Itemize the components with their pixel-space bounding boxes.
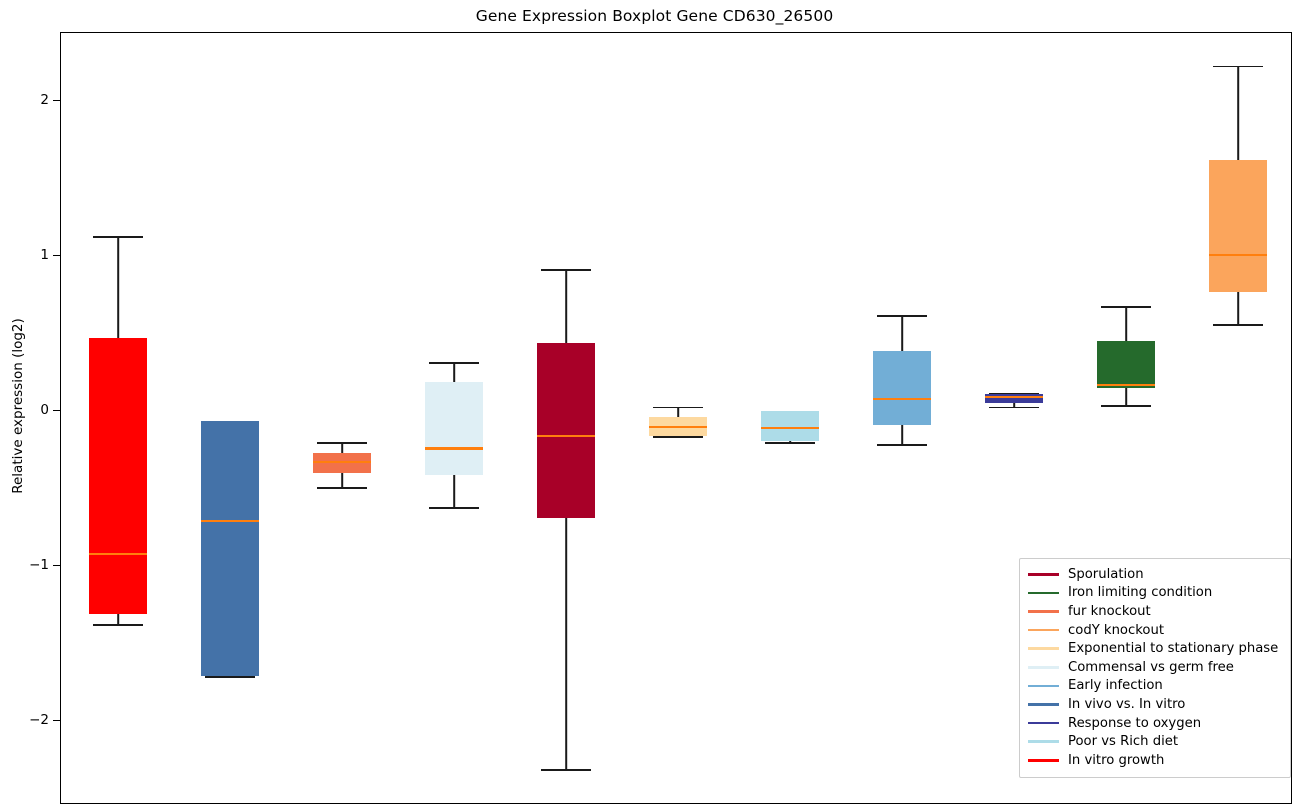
- cap-upper: [653, 407, 703, 409]
- legend-item-label: codY knockout: [1068, 623, 1164, 638]
- legend-item[interactable]: fur knockout: [1028, 602, 1282, 621]
- y-axis-tick: [53, 100, 61, 101]
- whisker-lower: [565, 518, 567, 769]
- legend-item[interactable]: Exponential to stationary phase: [1028, 639, 1282, 658]
- median-line: [761, 427, 819, 429]
- legend-color-swatch: [1028, 629, 1059, 632]
- legend-item-label: Response to oxygen: [1068, 716, 1201, 731]
- cap-upper: [1213, 66, 1263, 68]
- cap-lower: [317, 487, 367, 489]
- cap-lower: [93, 624, 143, 626]
- whisker-upper: [1237, 66, 1239, 161]
- cap-lower: [541, 769, 591, 771]
- median-line: [873, 398, 931, 400]
- y-axis-tick: [53, 565, 61, 566]
- median-line: [1209, 254, 1267, 256]
- chart-title: Gene Expression Boxplot Gene CD630_26500: [0, 7, 1309, 25]
- legend-item[interactable]: codY knockout: [1028, 621, 1282, 640]
- legend-color-swatch: [1028, 592, 1059, 595]
- box: [1097, 341, 1155, 388]
- legend-color-swatch: [1028, 722, 1059, 725]
- cap-lower: [989, 407, 1039, 409]
- box: [761, 411, 819, 440]
- y-axis-tick: [53, 720, 61, 721]
- cap-upper: [1101, 306, 1151, 308]
- whisker-lower: [1237, 292, 1239, 325]
- cap-upper: [877, 315, 927, 317]
- box: [1209, 160, 1267, 292]
- legend-item-label: fur knockout: [1068, 604, 1151, 619]
- cap-lower: [429, 507, 479, 509]
- cap-upper: [317, 442, 367, 444]
- legend-item-label: Sporulation: [1068, 567, 1144, 582]
- median-line: [89, 553, 147, 555]
- box: [537, 343, 595, 518]
- legend-color-swatch: [1028, 573, 1059, 576]
- legend-item-label: Poor vs Rich diet: [1068, 734, 1178, 749]
- y-axis-label-text: Relative expression (log2): [10, 318, 26, 494]
- legend-item-label: In vivo vs. In vitro: [1068, 697, 1185, 712]
- y-axis-tick-label: −1: [29, 557, 49, 573]
- y-axis-label: Relative expression (log2): [5, 0, 31, 812]
- legend-color-swatch: [1028, 759, 1059, 762]
- legend-item[interactable]: In vitro growth: [1028, 751, 1282, 770]
- legend-item[interactable]: Sporulation: [1028, 565, 1282, 584]
- cap-lower: [1213, 324, 1263, 326]
- legend: SporulationIron limiting conditionfur kn…: [1019, 558, 1291, 778]
- whisker-lower: [1125, 388, 1127, 405]
- median-line: [425, 447, 483, 449]
- legend-item[interactable]: Iron limiting condition: [1028, 584, 1282, 603]
- whisker-lower: [117, 614, 119, 623]
- cap-upper: [93, 236, 143, 238]
- y-axis-tick-label: 0: [40, 402, 49, 418]
- cap-lower: [205, 676, 255, 678]
- y-axis-tick-label: 1: [40, 247, 49, 263]
- y-axis-tick-label: −2: [29, 712, 49, 728]
- legend-item[interactable]: Early infection: [1028, 677, 1282, 696]
- legend-color-swatch: [1028, 666, 1059, 669]
- y-axis-tick-label: 2: [40, 92, 49, 108]
- box: [89, 338, 147, 614]
- legend-item[interactable]: Response to oxygen: [1028, 714, 1282, 733]
- whisker-lower: [901, 425, 903, 444]
- median-line: [985, 396, 1043, 398]
- cap-lower: [877, 444, 927, 446]
- legend-color-swatch: [1028, 703, 1059, 706]
- legend-color-swatch: [1028, 685, 1059, 688]
- y-axis-tick: [53, 255, 61, 256]
- median-line: [1097, 384, 1155, 386]
- legend-item[interactable]: In vivo vs. In vitro: [1028, 695, 1282, 714]
- legend-item[interactable]: Poor vs Rich diet: [1028, 732, 1282, 751]
- whisker-upper: [565, 269, 567, 343]
- y-axis-tick: [53, 410, 61, 411]
- box: [873, 351, 931, 425]
- legend-color-swatch: [1028, 610, 1059, 613]
- box: [201, 421, 259, 677]
- median-line: [649, 426, 707, 428]
- legend-item-label: Iron limiting condition: [1068, 585, 1212, 600]
- whisker-lower: [453, 475, 455, 508]
- median-line: [313, 461, 371, 463]
- whisker-upper: [901, 315, 903, 351]
- median-line: [537, 435, 595, 437]
- whisker-upper: [1125, 306, 1127, 342]
- whisker-upper: [117, 236, 119, 338]
- box: [425, 382, 483, 475]
- cap-upper: [429, 362, 479, 364]
- legend-item-label: Commensal vs germ free: [1068, 660, 1234, 675]
- legend-item-label: In vitro growth: [1068, 753, 1164, 768]
- legend-color-swatch: [1028, 740, 1059, 743]
- chart-root: Gene Expression Boxplot Gene CD630_26500…: [0, 0, 1309, 812]
- legend-item-label: Exponential to stationary phase: [1068, 641, 1278, 656]
- whisker-lower: [341, 473, 343, 487]
- cap-lower: [1101, 405, 1151, 407]
- cap-lower: [653, 436, 703, 438]
- cap-upper: [541, 269, 591, 271]
- median-line: [201, 520, 259, 522]
- legend-item[interactable]: Commensal vs germ free: [1028, 658, 1282, 677]
- cap-lower: [765, 442, 815, 444]
- legend-color-swatch: [1028, 647, 1059, 650]
- legend-item-label: Early infection: [1068, 678, 1163, 693]
- whisker-upper: [453, 362, 455, 382]
